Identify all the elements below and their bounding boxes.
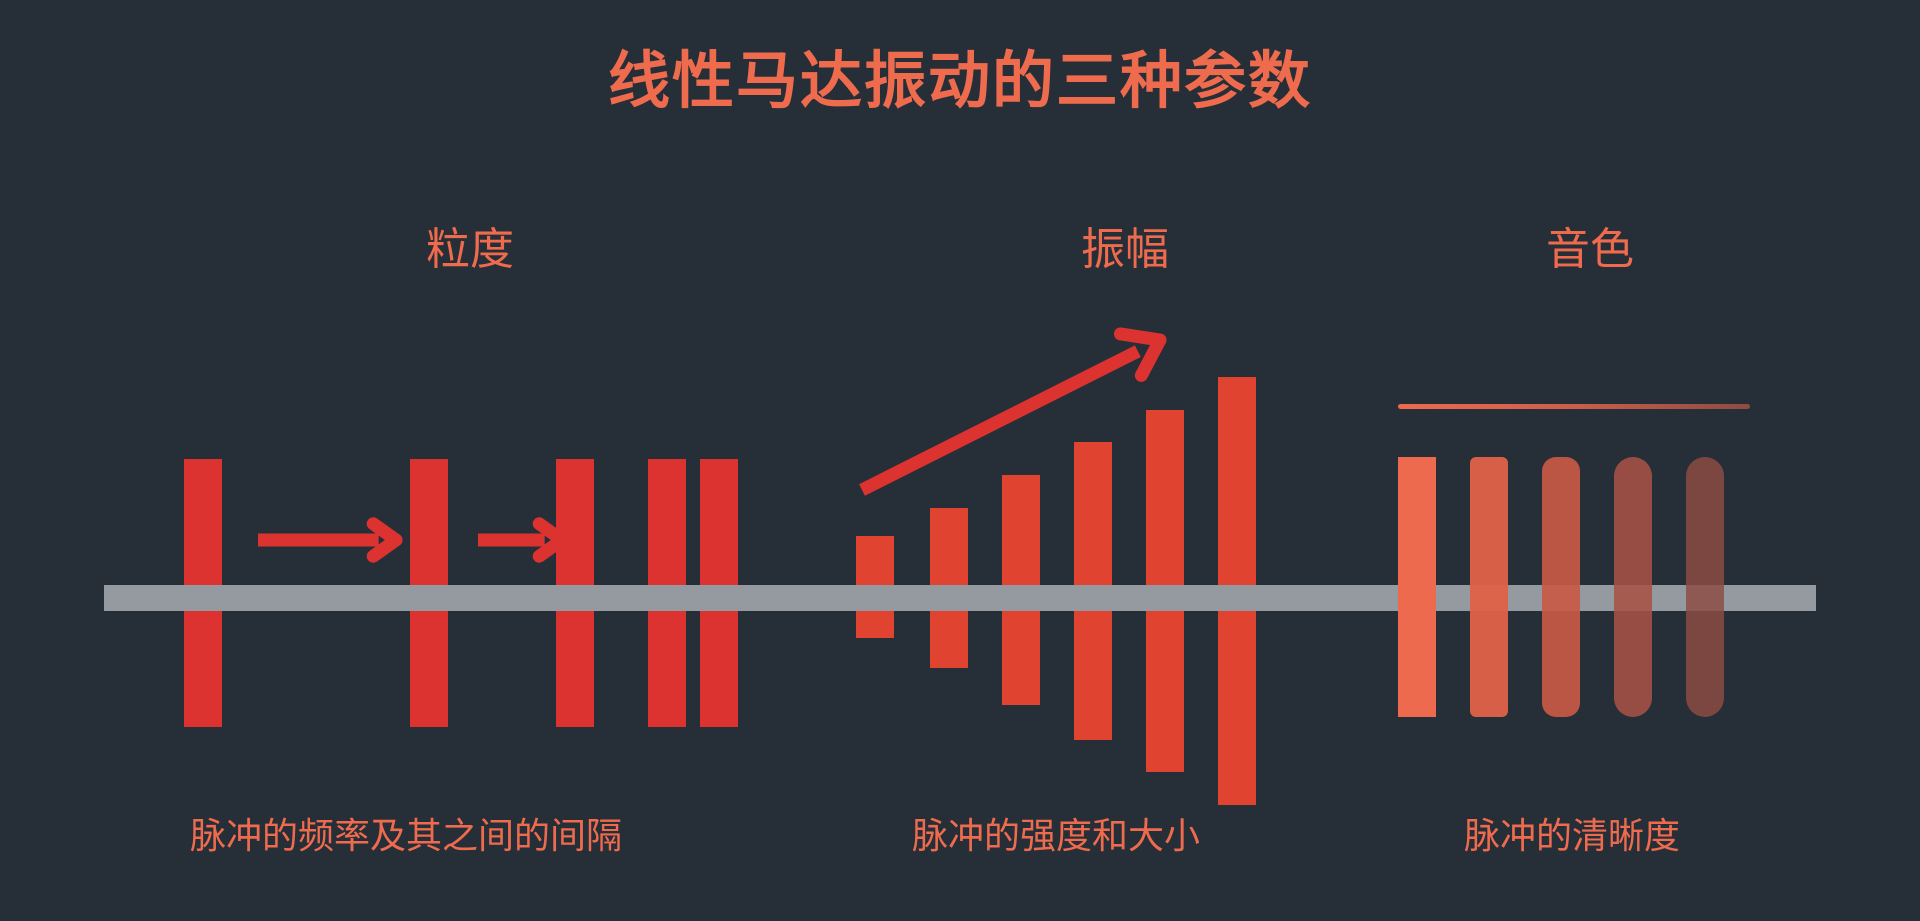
caption-granularity: 脉冲的频率及其之间的间隔 bbox=[190, 818, 622, 854]
caption-timbre: 脉冲的清晰度 bbox=[1464, 818, 1680, 854]
infographic-canvas: 线性马达振动的三种参数 粒度 振幅 音色 脉冲的频率及其之间的间隔 脉冲的强度和… bbox=[0, 0, 1920, 921]
growth-arrow bbox=[862, 334, 1160, 490]
amplitude-growth-arrow bbox=[0, 0, 1920, 921]
caption-amplitude: 脉冲的强度和大小 bbox=[912, 818, 1200, 854]
